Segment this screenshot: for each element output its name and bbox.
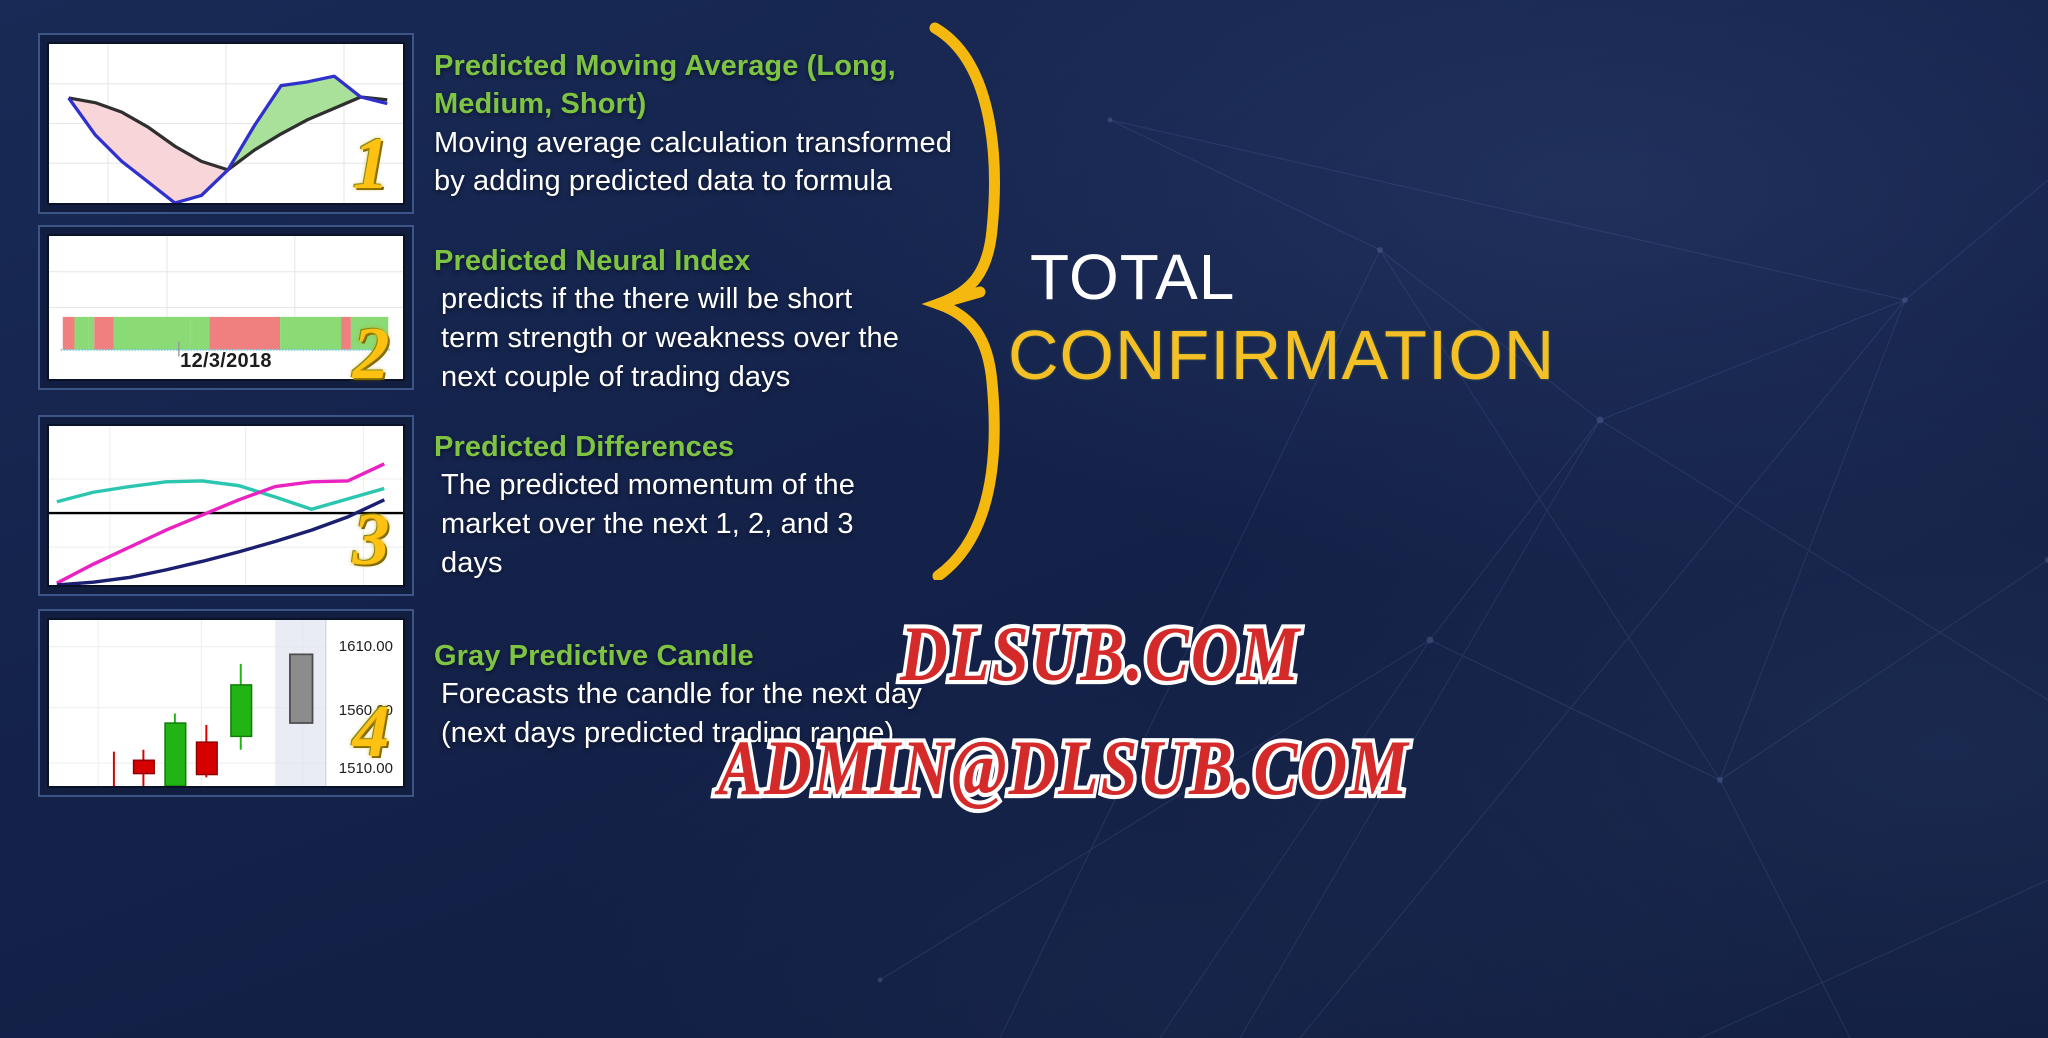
predicted-differences-chart [49, 426, 403, 585]
chart-canvas-neural-index: 12/3/2018 [47, 234, 405, 381]
chart-canvas-moving-average [47, 42, 405, 205]
candle-4 [197, 725, 218, 777]
watermark-site: DLSUB.COM [900, 610, 1301, 700]
callout-confirmation: CONFIRMATION [1008, 315, 1555, 395]
price-axis-labels: 1610.00 1560.00 1510.00 [321, 620, 397, 786]
chart-canvas-predicted-differences [47, 424, 405, 587]
candle-5 [231, 664, 252, 750]
candle-3 [165, 713, 186, 786]
difference-1-line [57, 481, 384, 509]
candle-2 [134, 750, 155, 786]
chart-card-predicted-differences [38, 415, 414, 596]
feature-body-1-line-1: Moving average calculation transformed [434, 127, 952, 159]
price-tick-1560: 1560.00 [339, 702, 393, 719]
moving-average-chart [49, 44, 403, 203]
watermark-email: ADMIN@DLSUB.COM [718, 724, 1410, 814]
feature-body-1-line-2: by adding predicted data to formula [434, 165, 892, 197]
neural-index-date-label: 12/3/2018 [49, 350, 403, 373]
callout-total: TOTAL [1030, 240, 1235, 314]
chart-card-neural-index: 12/3/2018 [38, 225, 414, 390]
bearish-fill [69, 98, 228, 203]
chart-card-moving-average [38, 33, 414, 214]
neural-index-bars [63, 317, 388, 350]
chart-card-gray-predictive-candle: 1610.00 1560.00 1510.00 [38, 609, 414, 797]
gray-predictive-candle [290, 654, 313, 723]
price-tick-1510: 1510.00 [339, 760, 393, 777]
chart-canvas-candlestick: 1610.00 1560.00 1510.00 [47, 618, 405, 788]
price-tick-1610: 1610.00 [339, 638, 393, 655]
